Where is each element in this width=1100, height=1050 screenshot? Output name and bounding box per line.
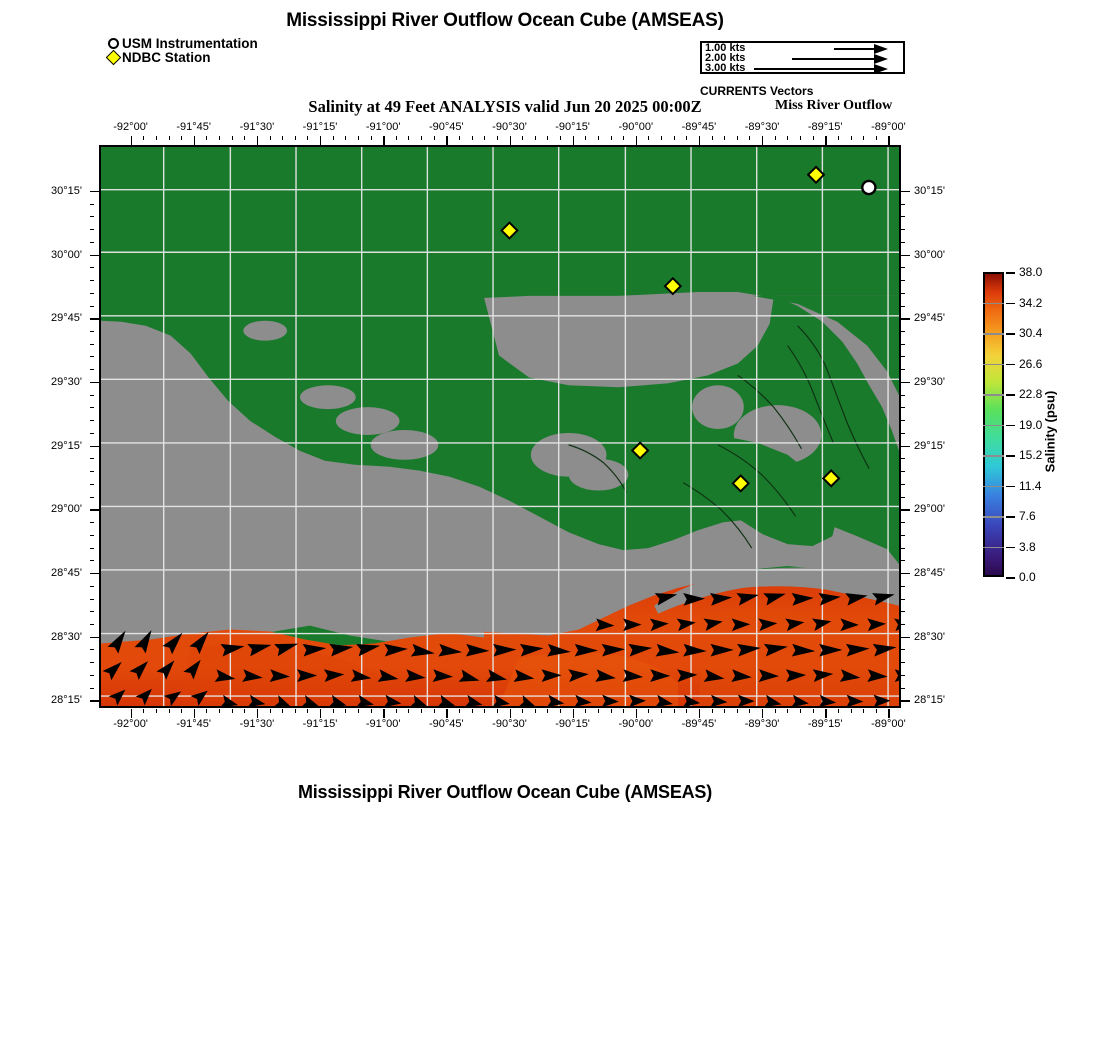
y-axis-tick-label: 29°30' bbox=[914, 376, 976, 388]
axis-minor-tick bbox=[787, 136, 788, 140]
axis-minor-tick bbox=[560, 136, 561, 140]
axis-minor-tick bbox=[90, 369, 94, 370]
vector-key-shaft bbox=[834, 48, 874, 50]
axis-minor-tick bbox=[358, 136, 359, 140]
axis-minor-tick bbox=[674, 709, 675, 713]
axis-minor-tick bbox=[472, 136, 473, 140]
x-axis-tick-label: -91°00' bbox=[366, 121, 401, 133]
y-axis-ticks-left bbox=[90, 145, 99, 708]
axis-minor-tick bbox=[863, 709, 864, 713]
axis-minor-tick bbox=[901, 624, 905, 625]
x-axis-tick-label: -89°15' bbox=[808, 121, 843, 133]
axis-minor-tick bbox=[800, 136, 801, 140]
axis-major-tick bbox=[762, 136, 763, 145]
axis-minor-tick bbox=[90, 267, 94, 268]
axis-minor-tick bbox=[661, 136, 662, 140]
axis-minor-tick bbox=[749, 709, 750, 713]
axis-major-tick bbox=[901, 318, 910, 319]
axis-minor-tick bbox=[90, 535, 94, 536]
x-axis-tick-label: -89°00' bbox=[871, 718, 906, 730]
axis-minor-tick bbox=[901, 649, 905, 650]
axis-major-tick bbox=[90, 318, 99, 319]
axis-minor-tick bbox=[901, 688, 905, 689]
axis-minor-tick bbox=[90, 356, 94, 357]
colorbar-divider bbox=[983, 394, 1004, 396]
colorbar-tick-label: 30.4 bbox=[1019, 326, 1042, 340]
axis-minor-tick bbox=[169, 709, 170, 713]
axis-minor-tick bbox=[901, 548, 905, 549]
axis-minor-tick bbox=[90, 675, 94, 676]
axis-major-tick bbox=[901, 509, 910, 510]
axis-minor-tick bbox=[90, 395, 94, 396]
axis-minor-tick bbox=[623, 136, 624, 140]
axis-minor-tick bbox=[371, 709, 372, 713]
x-axis-tick-label: -91°00' bbox=[366, 718, 401, 730]
axis-minor-tick bbox=[901, 662, 905, 663]
axis-minor-tick bbox=[434, 709, 435, 713]
axis-minor-tick bbox=[876, 709, 877, 713]
axis-minor-tick bbox=[901, 484, 905, 485]
axis-major-tick bbox=[90, 255, 99, 256]
colorbar-tick bbox=[1006, 577, 1015, 579]
x-axis-tick-label: -91°30' bbox=[240, 718, 275, 730]
axis-major-tick bbox=[90, 573, 99, 574]
axis-minor-tick bbox=[181, 136, 182, 140]
axis-minor-tick bbox=[90, 624, 94, 625]
x-axis-tick-label: -91°30' bbox=[240, 121, 275, 133]
axis-minor-tick bbox=[611, 136, 612, 140]
axis-minor-tick bbox=[421, 136, 422, 140]
axis-minor-tick bbox=[813, 709, 814, 713]
axis-minor-tick bbox=[333, 709, 334, 713]
axis-minor-tick bbox=[90, 586, 94, 587]
axis-minor-tick bbox=[270, 136, 271, 140]
axis-minor-tick bbox=[901, 611, 905, 612]
axis-major-tick bbox=[636, 709, 637, 718]
axis-minor-tick bbox=[598, 709, 599, 713]
colorbar-divider bbox=[983, 516, 1004, 518]
axis-minor-tick bbox=[737, 136, 738, 140]
axis-major-tick bbox=[888, 136, 889, 145]
colorbar-tick-label: 22.8 bbox=[1019, 387, 1042, 401]
colorbar-tick bbox=[1006, 364, 1015, 366]
axis-major-tick bbox=[446, 709, 447, 718]
axis-major-tick bbox=[699, 709, 700, 718]
x-axis-tick-label: -89°45' bbox=[682, 718, 717, 730]
vector-key-shaft bbox=[754, 68, 874, 70]
axis-minor-tick bbox=[90, 611, 94, 612]
axis-major-tick bbox=[510, 136, 511, 145]
axis-minor-tick bbox=[724, 709, 725, 713]
vector-key-caption: CURRENTS Vectors bbox=[700, 84, 813, 98]
axis-minor-tick bbox=[181, 709, 182, 713]
axis-minor-tick bbox=[459, 709, 460, 713]
vector-key-arrowhead bbox=[874, 54, 888, 64]
axis-minor-tick bbox=[90, 344, 94, 345]
axis-minor-tick bbox=[219, 136, 220, 140]
axis-minor-tick bbox=[90, 293, 94, 294]
axis-minor-tick bbox=[611, 709, 612, 713]
colorbar-divider bbox=[983, 364, 1004, 366]
map-canvas bbox=[101, 147, 899, 706]
axis-minor-tick bbox=[90, 229, 94, 230]
axis-major-tick bbox=[825, 709, 826, 718]
axis-minor-tick bbox=[90, 649, 94, 650]
axis-minor-tick bbox=[775, 709, 776, 713]
axis-minor-tick bbox=[901, 267, 905, 268]
axis-minor-tick bbox=[90, 471, 94, 472]
page-title-top: Mississippi River Outflow Ocean Cube (AM… bbox=[0, 10, 1010, 32]
axis-minor-tick bbox=[282, 709, 283, 713]
vector-key-arrowhead bbox=[874, 64, 888, 74]
ndbc-station-icon bbox=[106, 49, 122, 65]
x-axis-tick-label: -89°00' bbox=[871, 121, 906, 133]
axis-minor-tick bbox=[598, 136, 599, 140]
vector-key-arrowhead bbox=[874, 44, 888, 54]
axis-major-tick bbox=[90, 191, 99, 192]
axis-major-tick bbox=[699, 136, 700, 145]
x-axis-tick-label: -89°15' bbox=[808, 718, 843, 730]
axis-minor-tick bbox=[863, 136, 864, 140]
x-axis-tick-label: -90°30' bbox=[492, 718, 527, 730]
page-title-bottom: Mississippi River Outflow Ocean Cube (AM… bbox=[0, 782, 1010, 803]
legend-item-ndbc: NDBC Station bbox=[108, 50, 258, 64]
axis-minor-tick bbox=[90, 407, 94, 408]
axis-minor-tick bbox=[459, 136, 460, 140]
axis-major-tick bbox=[194, 136, 195, 145]
axis-minor-tick bbox=[143, 709, 144, 713]
axis-major-tick bbox=[90, 446, 99, 447]
axis-minor-tick bbox=[345, 709, 346, 713]
axis-minor-tick bbox=[408, 709, 409, 713]
vector-key-shaft bbox=[792, 58, 874, 60]
axis-minor-tick bbox=[901, 675, 905, 676]
colorbar-divider bbox=[983, 333, 1004, 335]
axis-minor-tick bbox=[787, 709, 788, 713]
map-layers bbox=[101, 147, 899, 706]
axis-minor-tick bbox=[901, 420, 905, 421]
axis-minor-tick bbox=[497, 709, 498, 713]
axis-major-tick bbox=[90, 700, 99, 701]
axis-minor-tick bbox=[90, 560, 94, 561]
vector-key-label: 3.00 kts bbox=[705, 63, 745, 74]
axis-minor-tick bbox=[800, 709, 801, 713]
axis-minor-tick bbox=[90, 433, 94, 434]
axis-minor-tick bbox=[371, 136, 372, 140]
axis-major-tick bbox=[901, 382, 910, 383]
x-axis-tick-label: -90°00' bbox=[618, 718, 653, 730]
colorbar-divider bbox=[983, 547, 1004, 549]
axis-major-tick bbox=[90, 382, 99, 383]
colorbar-tick-label: 11.4 bbox=[1019, 479, 1041, 493]
y-axis-tick-label: 30°00' bbox=[24, 249, 82, 261]
axis-minor-tick bbox=[901, 204, 905, 205]
axis-minor-tick bbox=[307, 136, 308, 140]
axis-minor-tick bbox=[585, 709, 586, 713]
axis-minor-tick bbox=[333, 136, 334, 140]
legend-label-usm: USM Instrumentation bbox=[122, 37, 258, 50]
axis-minor-tick bbox=[901, 586, 905, 587]
axis-minor-tick bbox=[282, 136, 283, 140]
colorbar-divider bbox=[983, 303, 1004, 305]
axis-minor-tick bbox=[522, 709, 523, 713]
usm-instrumentation-marker[interactable] bbox=[862, 181, 875, 194]
colorbar-tick-label: 34.2 bbox=[1019, 296, 1042, 310]
axis-minor-tick bbox=[90, 216, 94, 217]
axis-minor-tick bbox=[472, 709, 473, 713]
colorbar-tick bbox=[1006, 516, 1015, 518]
axis-minor-tick bbox=[90, 331, 94, 332]
axis-major-tick bbox=[320, 709, 321, 718]
axis-minor-tick bbox=[206, 136, 207, 140]
y-axis-tick-label: 28°45' bbox=[24, 567, 82, 579]
axis-minor-tick bbox=[851, 136, 852, 140]
axis-minor-tick bbox=[712, 709, 713, 713]
axis-major-tick bbox=[901, 191, 910, 192]
axis-minor-tick bbox=[535, 709, 536, 713]
axis-minor-tick bbox=[901, 599, 905, 600]
vector-key-row: 3.00 kts bbox=[702, 64, 903, 74]
axis-minor-tick bbox=[901, 471, 905, 472]
axis-major-tick bbox=[573, 709, 574, 718]
axis-minor-tick bbox=[307, 709, 308, 713]
x-axis-tick-label: -91°15' bbox=[303, 121, 338, 133]
axis-minor-tick bbox=[901, 407, 905, 408]
axis-minor-tick bbox=[876, 136, 877, 140]
axis-minor-tick bbox=[90, 458, 94, 459]
axis-major-tick bbox=[573, 136, 574, 145]
colorbar-divider bbox=[983, 455, 1004, 457]
y-axis-tick-label: 30°15' bbox=[24, 185, 82, 197]
axis-minor-tick bbox=[724, 136, 725, 140]
axis-major-tick bbox=[131, 136, 132, 145]
axis-minor-tick bbox=[408, 136, 409, 140]
axis-minor-tick bbox=[901, 395, 905, 396]
axis-minor-tick bbox=[737, 709, 738, 713]
currents-vector-key: 1.00 kts 2.00 kts 3.00 kts bbox=[700, 41, 905, 74]
axis-minor-tick bbox=[674, 136, 675, 140]
colorbar-tick-label: 7.6 bbox=[1019, 509, 1036, 523]
axis-minor-tick bbox=[838, 709, 839, 713]
x-axis-tick-label: -89°30' bbox=[745, 718, 780, 730]
y-axis-tick-label: 30°00' bbox=[914, 249, 976, 261]
axis-major-tick bbox=[131, 709, 132, 718]
axis-major-tick bbox=[257, 136, 258, 145]
colorbar-tick bbox=[1006, 333, 1015, 335]
x-axis-tick-label: -91°45' bbox=[176, 121, 211, 133]
colorbar-tick bbox=[1006, 547, 1015, 549]
axis-major-tick bbox=[383, 136, 384, 145]
axis-minor-tick bbox=[851, 709, 852, 713]
x-axis-tick-label: -90°15' bbox=[555, 121, 590, 133]
axis-minor-tick bbox=[90, 420, 94, 421]
axis-minor-tick bbox=[901, 306, 905, 307]
axis-minor-tick bbox=[143, 136, 144, 140]
x-axis-tick-label: -92°00' bbox=[113, 718, 148, 730]
axis-major-tick bbox=[901, 446, 910, 447]
colorbar-tick-label: 15.2 bbox=[1019, 448, 1042, 462]
colorbar-tick bbox=[1006, 272, 1015, 274]
colorbar-tick-label: 3.8 bbox=[1019, 540, 1036, 554]
axis-minor-tick bbox=[90, 497, 94, 498]
axis-minor-tick bbox=[497, 136, 498, 140]
axis-minor-tick bbox=[156, 709, 157, 713]
axis-minor-tick bbox=[560, 709, 561, 713]
y-axis-tick-label: 28°15' bbox=[24, 694, 82, 706]
axis-minor-tick bbox=[90, 280, 94, 281]
y-axis-tick-label: 29°15' bbox=[914, 440, 976, 452]
y-axis-tick-label: 29°45' bbox=[914, 312, 976, 324]
axis-major-tick bbox=[888, 709, 889, 718]
x-axis-ticks-top bbox=[99, 136, 901, 145]
x-axis-tick-label: -90°45' bbox=[429, 718, 464, 730]
colorbar-tick bbox=[1006, 455, 1015, 457]
axis-minor-tick bbox=[358, 709, 359, 713]
axis-minor-tick bbox=[232, 136, 233, 140]
axis-minor-tick bbox=[585, 136, 586, 140]
axis-major-tick bbox=[257, 709, 258, 718]
axis-minor-tick bbox=[295, 136, 296, 140]
axis-minor-tick bbox=[244, 709, 245, 713]
axis-major-tick bbox=[901, 573, 910, 574]
x-axis-tick-label: -90°30' bbox=[492, 121, 527, 133]
x-axis-tick-label: -90°15' bbox=[555, 718, 590, 730]
axis-minor-tick bbox=[270, 709, 271, 713]
colorbar-tick-label: 26.6 bbox=[1019, 357, 1042, 371]
axis-minor-tick bbox=[219, 709, 220, 713]
x-axis-tick-label: -89°30' bbox=[745, 121, 780, 133]
colorbar-title: Salinity (psu) bbox=[1043, 391, 1058, 473]
axis-major-tick bbox=[320, 136, 321, 145]
axis-major-tick bbox=[446, 136, 447, 145]
axis-minor-tick bbox=[901, 280, 905, 281]
colorbar-tick bbox=[1006, 303, 1015, 305]
colorbar-tick bbox=[1006, 486, 1015, 488]
axis-minor-tick bbox=[90, 204, 94, 205]
axis-minor-tick bbox=[686, 709, 687, 713]
axis-minor-tick bbox=[206, 709, 207, 713]
axis-minor-tick bbox=[345, 136, 346, 140]
axis-minor-tick bbox=[90, 484, 94, 485]
axis-minor-tick bbox=[547, 136, 548, 140]
axis-minor-tick bbox=[901, 560, 905, 561]
axis-minor-tick bbox=[90, 688, 94, 689]
axis-major-tick bbox=[901, 637, 910, 638]
axis-minor-tick bbox=[775, 136, 776, 140]
axis-major-tick bbox=[762, 709, 763, 718]
axis-minor-tick bbox=[686, 136, 687, 140]
axis-minor-tick bbox=[901, 242, 905, 243]
map-plot-area[interactable] bbox=[99, 145, 901, 708]
axis-minor-tick bbox=[901, 535, 905, 536]
colorbar-tick-label: 38.0 bbox=[1019, 265, 1042, 279]
axis-minor-tick bbox=[396, 136, 397, 140]
axis-major-tick bbox=[825, 136, 826, 145]
x-axis-tick-label: -91°45' bbox=[176, 718, 211, 730]
x-axis-tick-label: -90°00' bbox=[618, 121, 653, 133]
axis-minor-tick bbox=[396, 709, 397, 713]
axis-minor-tick bbox=[90, 548, 94, 549]
y-axis-tick-label: 28°30' bbox=[24, 631, 82, 643]
axis-minor-tick bbox=[90, 242, 94, 243]
axis-minor-tick bbox=[901, 522, 905, 523]
colorbar-tick-label: 19.0 bbox=[1019, 418, 1042, 432]
usm-instrumentation-icon bbox=[108, 38, 119, 49]
axis-minor-tick bbox=[232, 709, 233, 713]
axis-minor-tick bbox=[421, 709, 422, 713]
axis-minor-tick bbox=[169, 136, 170, 140]
axis-minor-tick bbox=[661, 709, 662, 713]
x-axis-tick-label: -91°15' bbox=[303, 718, 338, 730]
axis-major-tick bbox=[90, 509, 99, 510]
x-axis-tick-label: -92°00' bbox=[113, 121, 148, 133]
axis-major-tick bbox=[383, 709, 384, 718]
axis-major-tick bbox=[194, 709, 195, 718]
axis-major-tick bbox=[636, 136, 637, 145]
axis-minor-tick bbox=[547, 709, 548, 713]
axis-major-tick bbox=[901, 700, 910, 701]
x-axis-ticks-bottom bbox=[99, 709, 901, 718]
y-axis-tick-label: 29°15' bbox=[24, 440, 82, 452]
axis-minor-tick bbox=[484, 136, 485, 140]
marker-legend: USM Instrumentation NDBC Station bbox=[108, 36, 258, 64]
colorbar-tick-label: 0.0 bbox=[1019, 570, 1036, 584]
axis-minor-tick bbox=[813, 136, 814, 140]
axis-minor-tick bbox=[901, 229, 905, 230]
axis-major-tick bbox=[510, 709, 511, 718]
colorbar-divider bbox=[983, 425, 1004, 427]
axis-minor-tick bbox=[648, 709, 649, 713]
y-axis-tick-label: 29°00' bbox=[914, 503, 976, 515]
colorbar-tick bbox=[1006, 425, 1015, 427]
axis-minor-tick bbox=[901, 458, 905, 459]
axis-major-tick bbox=[901, 255, 910, 256]
axis-minor-tick bbox=[901, 369, 905, 370]
axis-minor-tick bbox=[295, 709, 296, 713]
y-axis-tick-label: 29°45' bbox=[24, 312, 82, 324]
legend-label-ndbc: NDBC Station bbox=[122, 51, 211, 64]
axis-minor-tick bbox=[484, 709, 485, 713]
axis-minor-tick bbox=[535, 136, 536, 140]
axis-major-tick bbox=[90, 637, 99, 638]
axis-minor-tick bbox=[522, 136, 523, 140]
axis-minor-tick bbox=[901, 497, 905, 498]
axis-minor-tick bbox=[90, 599, 94, 600]
axis-minor-tick bbox=[90, 522, 94, 523]
colorbar-divider bbox=[983, 486, 1004, 488]
axis-minor-tick bbox=[244, 136, 245, 140]
y-axis-tick-label: 30°15' bbox=[914, 185, 976, 197]
y-axis-ticks-right bbox=[901, 145, 910, 708]
axis-minor-tick bbox=[749, 136, 750, 140]
axis-minor-tick bbox=[901, 293, 905, 294]
axis-minor-tick bbox=[90, 306, 94, 307]
y-axis-tick-label: 28°30' bbox=[914, 631, 976, 643]
axis-minor-tick bbox=[712, 136, 713, 140]
y-axis-tick-label: 29°00' bbox=[24, 503, 82, 515]
axis-minor-tick bbox=[623, 709, 624, 713]
y-axis-tick-label: 28°45' bbox=[914, 567, 976, 579]
axis-minor-tick bbox=[90, 662, 94, 663]
region-label: Miss River Outflow bbox=[775, 98, 892, 114]
x-axis-tick-label: -89°45' bbox=[682, 121, 717, 133]
axis-minor-tick bbox=[648, 136, 649, 140]
axis-minor-tick bbox=[838, 136, 839, 140]
y-axis-tick-label: 29°30' bbox=[24, 376, 82, 388]
axis-minor-tick bbox=[434, 136, 435, 140]
x-axis-tick-label: -90°45' bbox=[429, 121, 464, 133]
legend-item-usm: USM Instrumentation bbox=[108, 36, 258, 50]
